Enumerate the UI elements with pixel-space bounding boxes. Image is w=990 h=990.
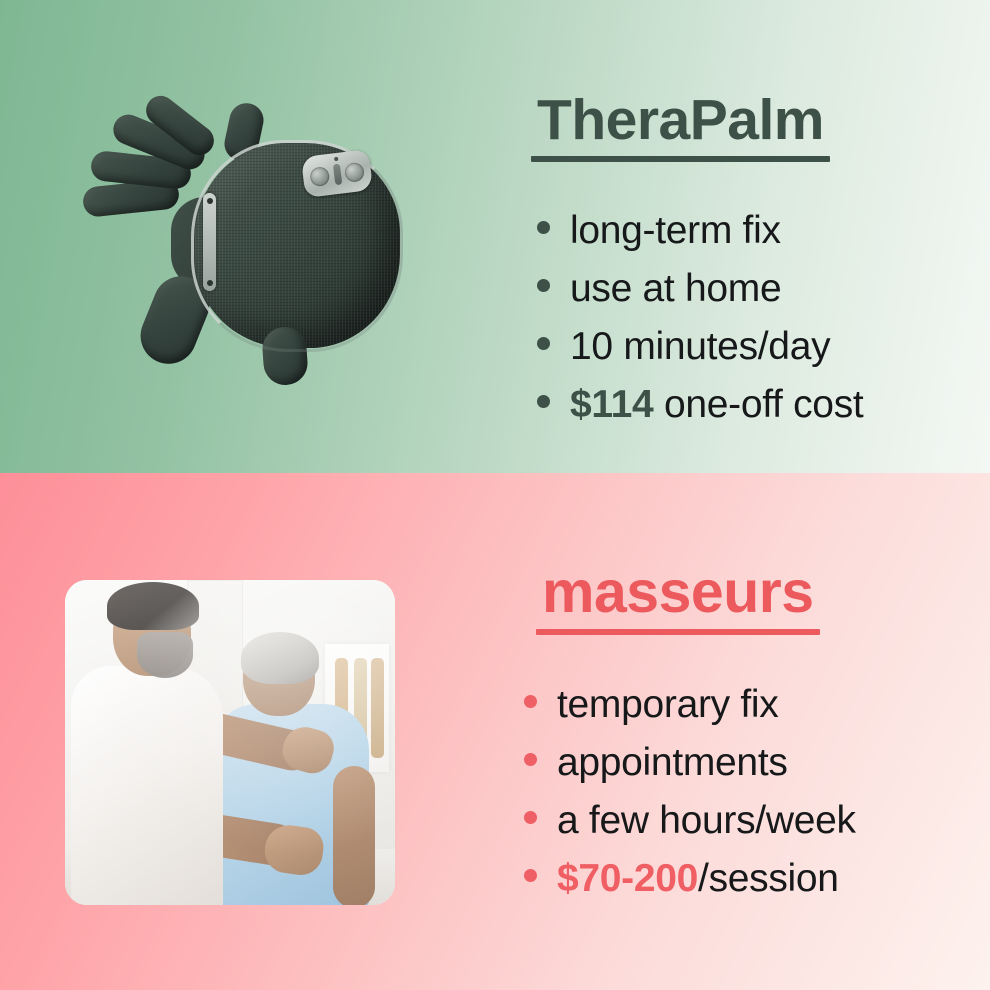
bullet-dot-icon bbox=[524, 695, 537, 708]
list-item: temporary fix bbox=[524, 685, 856, 724]
therapalm-heading-text: TheraPalm bbox=[537, 88, 824, 152]
masseur-photo bbox=[65, 580, 395, 905]
bullet-dot-icon bbox=[524, 753, 537, 766]
masseur-beard bbox=[137, 632, 193, 678]
bullet-text: 10 minutes/day bbox=[570, 327, 830, 366]
power-led-icon bbox=[334, 157, 338, 161]
bullet-dot-icon bbox=[537, 395, 550, 408]
masseur-torso bbox=[71, 666, 223, 905]
bullet-text: $114 one-off cost bbox=[570, 385, 863, 424]
masseurs-heading-text: masseurs bbox=[542, 559, 814, 625]
device-side-strip bbox=[203, 193, 216, 291]
masseurs-bullet-list: temporary fix appointments a few hours/w… bbox=[520, 685, 856, 898]
price-suffix: one-off cost bbox=[653, 383, 863, 426]
product-image-column bbox=[0, 0, 500, 473]
device-button-left[interactable] bbox=[309, 166, 330, 187]
device-button-right[interactable] bbox=[344, 162, 365, 183]
client-arm bbox=[333, 766, 375, 905]
price-value: $114 bbox=[570, 383, 653, 426]
list-item: appointments bbox=[524, 743, 856, 782]
list-item: $114 one-off cost bbox=[537, 385, 863, 424]
price-suffix: /session bbox=[698, 857, 839, 900]
masseur-hair bbox=[107, 582, 199, 630]
masseurs-heading: masseurs bbox=[542, 563, 814, 622]
bullet-text: a few hours/week bbox=[557, 801, 856, 840]
list-item: use at home bbox=[537, 269, 863, 308]
device-indicator bbox=[333, 164, 343, 186]
anatomy-figure bbox=[371, 658, 384, 758]
comparison-poster: TheraPalm long-term fix use at home 10 m bbox=[0, 0, 990, 990]
bullet-text: appointments bbox=[557, 743, 788, 782]
list-item: $70-200/session bbox=[524, 859, 856, 898]
client-hair bbox=[241, 632, 319, 684]
bullet-text: use at home bbox=[570, 269, 781, 308]
therapalm-text-column: TheraPalm long-term fix use at home 10 m bbox=[500, 0, 990, 473]
bullet-dot-icon bbox=[537, 279, 550, 292]
massage-device-illustration bbox=[75, 105, 405, 395]
list-item: long-term fix bbox=[537, 211, 863, 250]
bullet-text: temporary fix bbox=[557, 685, 779, 724]
list-item: a few hours/week bbox=[524, 801, 856, 840]
therapalm-panel: TheraPalm long-term fix use at home 10 m bbox=[0, 0, 990, 473]
heading-underline bbox=[531, 156, 830, 162]
heading-underline bbox=[536, 629, 820, 635]
bullet-dot-icon bbox=[524, 869, 537, 882]
therapalm-bullet-list: long-term fix use at home 10 minutes/day… bbox=[537, 211, 863, 424]
bullet-text: $70-200/session bbox=[557, 859, 839, 898]
bullet-dot-icon bbox=[524, 811, 537, 824]
masseurs-panel: masseurs temporary fix appointments bbox=[0, 473, 990, 990]
bullet-dot-icon bbox=[537, 337, 550, 350]
list-item: 10 minutes/day bbox=[537, 327, 863, 366]
clinic-photo-column bbox=[0, 473, 500, 990]
therapalm-heading: TheraPalm bbox=[537, 92, 824, 149]
masseurs-text-column: masseurs temporary fix appointments bbox=[500, 473, 990, 990]
price-value: $70-200 bbox=[557, 857, 698, 900]
bullet-text: long-term fix bbox=[570, 211, 781, 250]
device-chrome-rim bbox=[191, 140, 403, 352]
bullet-dot-icon bbox=[537, 221, 550, 234]
